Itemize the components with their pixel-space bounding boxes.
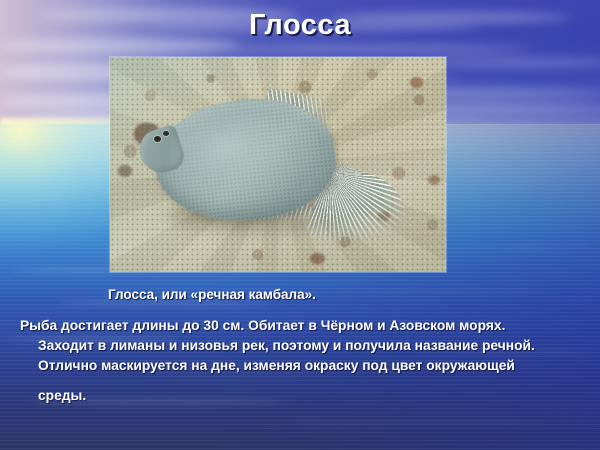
wave-streak [250,420,580,425]
sand-pebble [310,253,325,264]
paragraph-line: Рыба достигает длины до 30 см. Обитает в… [20,316,586,336]
sand-pebble [428,175,440,185]
description-paragraph: Рыба достигает длины до 30 см. Обитает в… [20,316,586,406]
sand-pebble [118,165,132,177]
paragraph-line: Отлично маскируется на дне, изменяя окра… [20,356,586,376]
fish-eye [154,136,161,142]
fish-eye [163,131,169,136]
fish-photograph [110,57,446,272]
image-caption: Глосса, или «речная камбала». [108,287,508,302]
slide-title: Глосса [0,9,600,42]
wave-streak [430,246,590,250]
paragraph-line: среды. [20,386,586,406]
cloud-wisp [230,44,530,54]
sand-pebble [410,77,423,88]
presentation-slide: Глосса Глосса, или «речная камбала». Рыб… [0,0,600,450]
paragraph-line: Заходит в лиманы и низовья рек, поэтому … [20,336,586,356]
